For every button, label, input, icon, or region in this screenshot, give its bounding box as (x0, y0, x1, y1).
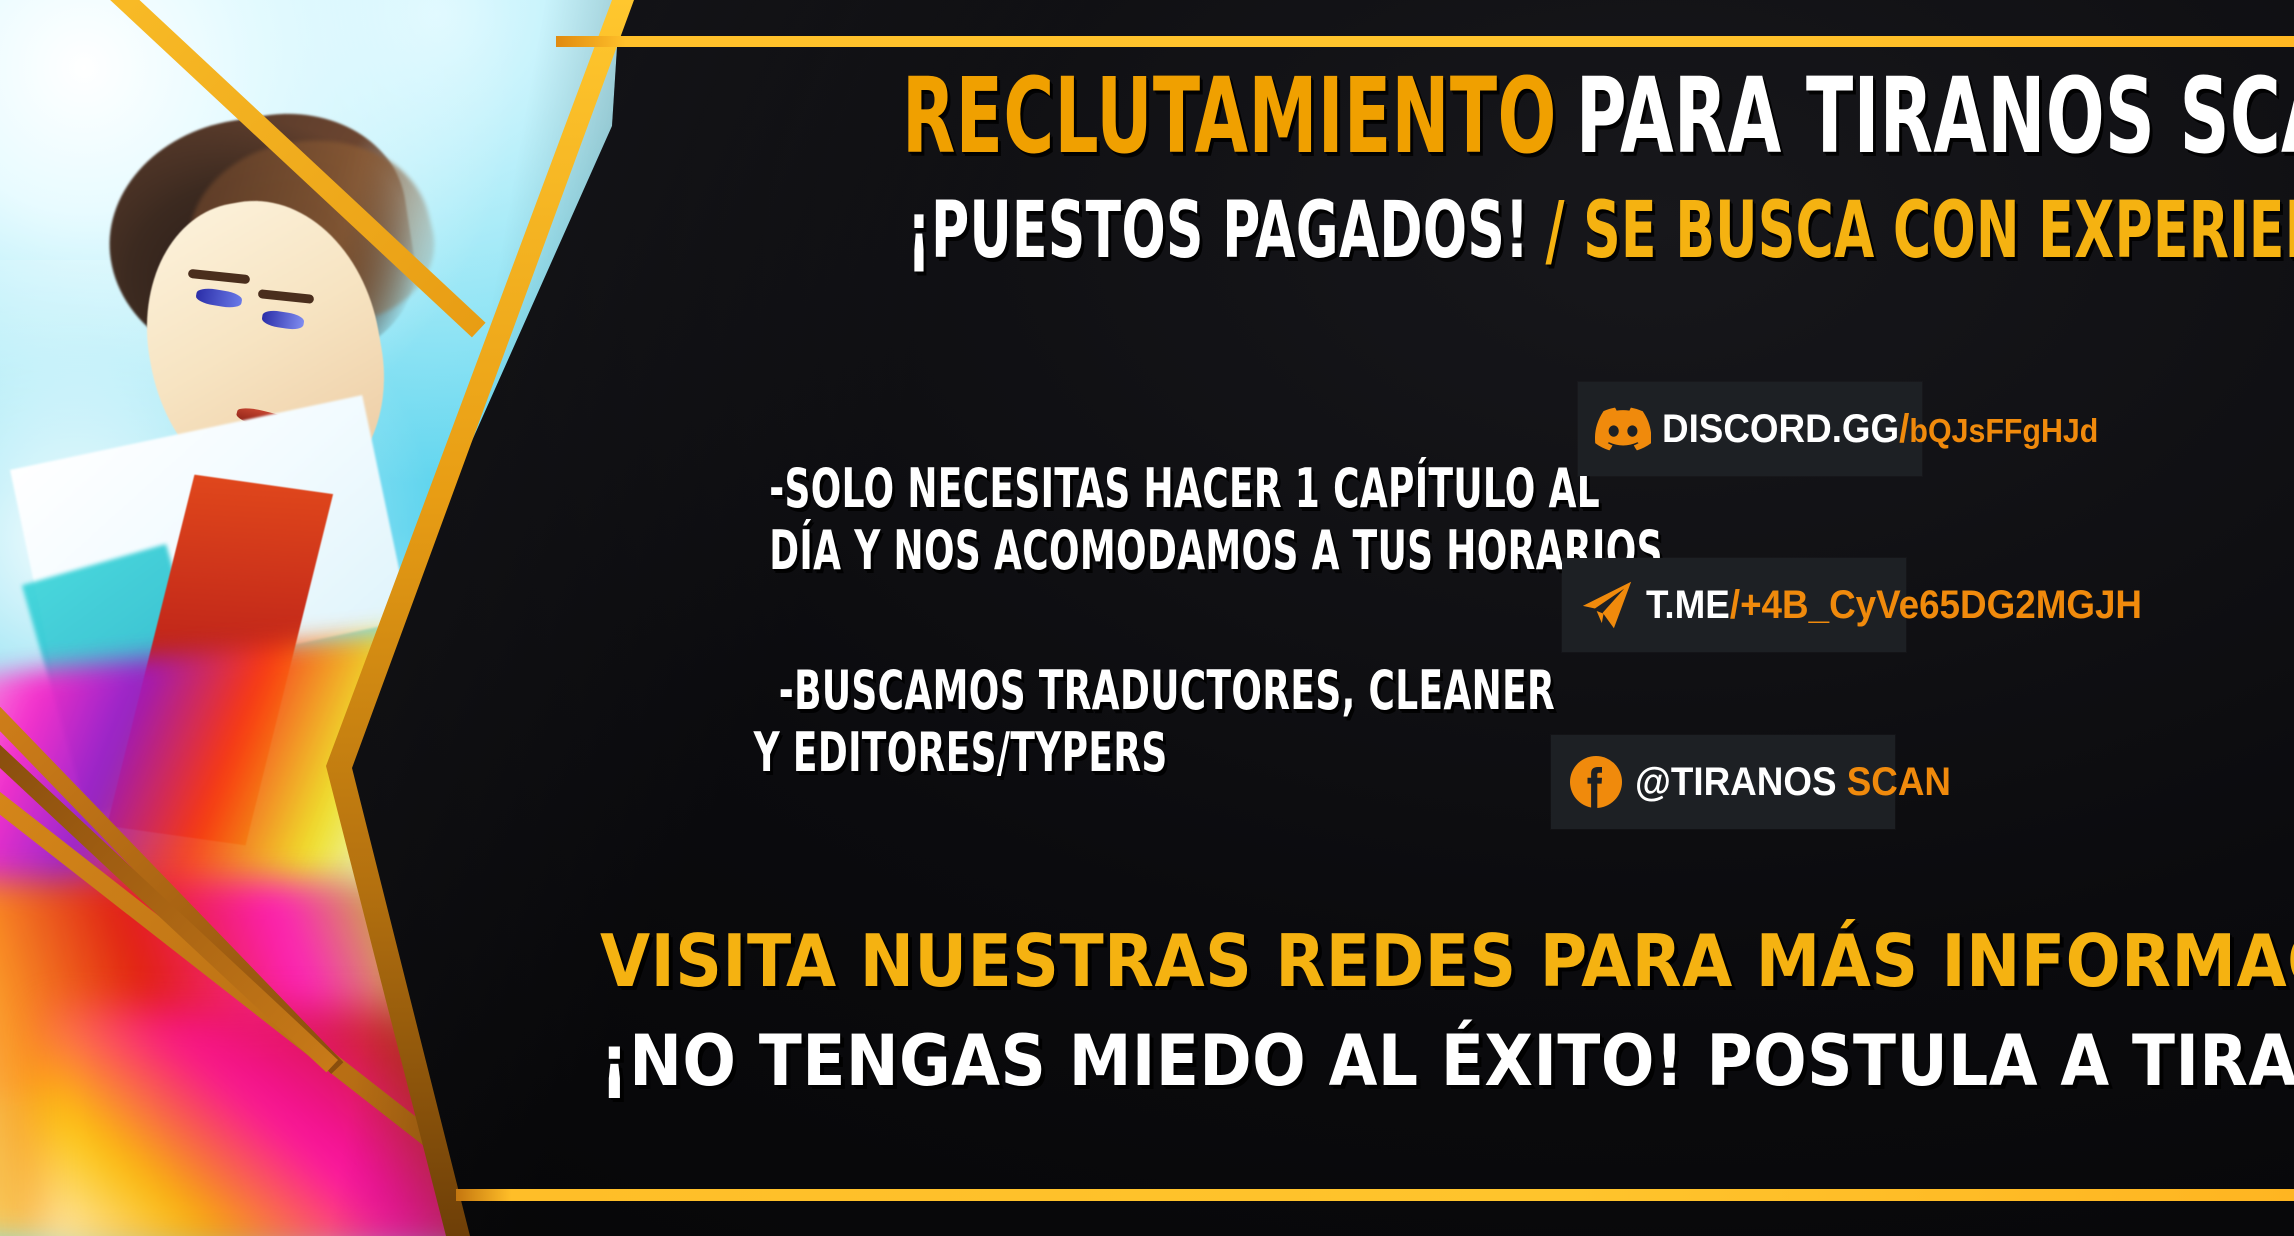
artwork-character-eye-left (195, 287, 243, 310)
telegram-icon (1576, 574, 1638, 636)
artwork-character-shirt (10, 395, 410, 695)
bullet-workload-line-1: -SOLO NECESITAS HACER 1 CAPÍTULO AL (769, 458, 1391, 520)
gold-triangle-edge-right (0, 678, 338, 1072)
cta-line-1: VISITA NUESTRAS REDES PARA MÁS INFORMACI… (600, 922, 2160, 1001)
contact-telegram-separator: / (1730, 583, 1740, 627)
gold-rule-bottom (456, 1189, 2294, 1201)
contact-telegram-code: +4B_CyVe65DG2MGJH (1740, 583, 2142, 627)
gold-rule-top (556, 36, 2294, 47)
bullet-workload-line-2: DÍA Y NOS ACOMODAMOS A TUS HORARIOS (769, 520, 1391, 582)
contact-facebook-text: @TIRANOS SCAN (1635, 760, 1951, 805)
artwork-character-hair-highlight (171, 114, 450, 356)
bullet-roles-line-1: -BUSCAMOS TRADUCTORES, CLEANER (749, 660, 1371, 722)
contact-discord[interactable]: DISCORD.GG/bQJsFFgHJd (1578, 382, 1922, 476)
subtitle-experience: / SE BUSCA CON EXPERIENCIA (1546, 186, 2294, 276)
contact-discord-prefix: DISCORD.GG (1662, 407, 1899, 451)
headline-highlight: RECLUTAMIENTO (902, 55, 1557, 177)
contact-telegram-text: T.ME/+4B_CyVe65DG2MGJH (1646, 583, 2142, 628)
artwork-character-eyebrow-right (258, 289, 315, 304)
contact-facebook-prefix: @TIRANOS (1635, 760, 1836, 804)
bullet-roles: -BUSCAMOS TRADUCTORES, CLEANER Y EDITORE… (640, 660, 1480, 784)
page-subtitle: ¡PUESTOS PAGADOS!/ SE BUSCA CON EXPERIEN… (640, 188, 2270, 274)
artwork-red-patterned-tie (107, 475, 333, 846)
discord-icon (1592, 398, 1654, 460)
contact-discord-code: bQJsFFgHJd (1909, 412, 2098, 449)
headline-rest: PARA TIRANOS SCAN (1576, 55, 2294, 177)
gold-diagonal-accent-top (0, 0, 486, 337)
artwork-character-eyebrow-left (188, 269, 251, 284)
subtitle-paid: ¡PUESTOS PAGADOS! (907, 186, 1529, 276)
page-title: RECLUTAMIENTOPARA TIRANOS SCAN (640, 62, 2270, 172)
artwork-character-mouth (235, 405, 299, 436)
cta-line-1-text: VISITA NUESTRAS REDES PARA MÁS INFORMACI… (600, 919, 2294, 1003)
bullet-workload: -SOLO NECESITAS HACER 1 CAPÍTULO AL DÍA … (660, 458, 1500, 582)
contact-facebook-separator (1836, 760, 1846, 804)
cta-line-2-text: ¡NO TENGAS MIEDO AL ÉXITO! POSTULA A TIR… (600, 1020, 2294, 1102)
artwork-character-eye-right (261, 309, 305, 331)
contact-discord-separator: / (1899, 407, 1909, 451)
cta-line-2: ¡NO TENGAS MIEDO AL ÉXITO! POSTULA A TIR… (600, 1022, 2200, 1100)
contact-telegram-prefix: T.ME (1646, 583, 1730, 627)
contact-discord-text: DISCORD.GG/bQJsFFgHJd (1662, 407, 2098, 452)
recruitment-poster: RECLUTAMIENTOPARA TIRANOS SCAN ¡PUESTOS … (0, 0, 2294, 1236)
contact-telegram[interactable]: T.ME/+4B_CyVe65DG2MGJH (1562, 558, 1906, 652)
facebook-icon (1565, 751, 1627, 813)
contact-facebook-code: SCAN (1847, 760, 1951, 804)
contact-facebook[interactable]: @TIRANOS SCAN (1551, 735, 1895, 829)
bullet-roles-line-2: Y EDITORES/TYPERS (749, 722, 1371, 784)
